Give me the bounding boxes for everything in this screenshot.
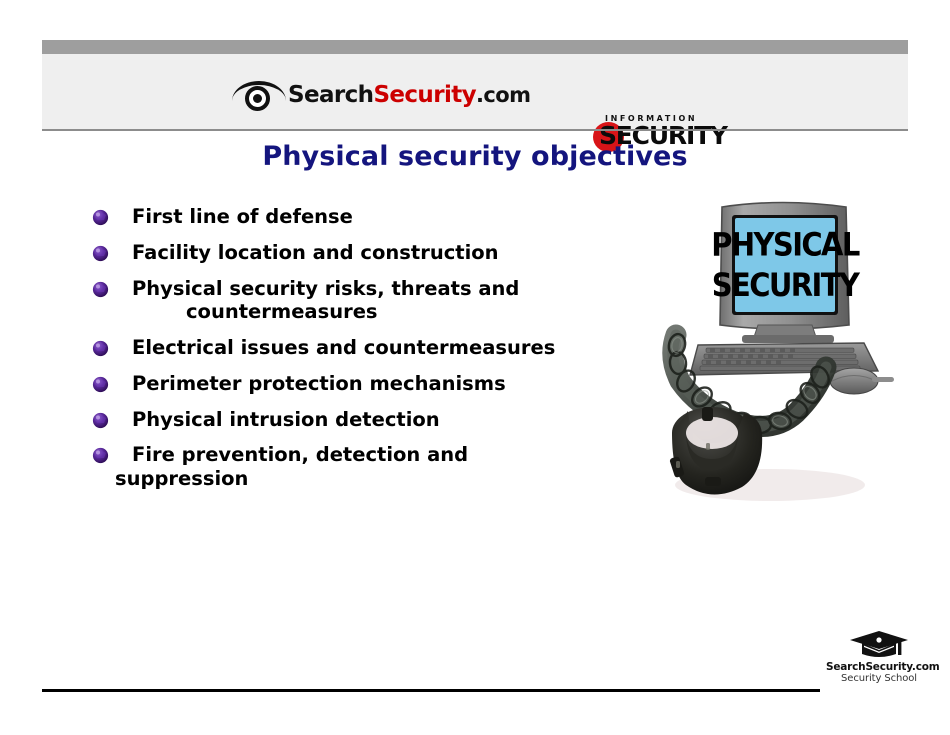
security-school-subtitle: Security School [826, 673, 932, 685]
security-school-logo: SearchSecurity.com Security School [826, 629, 932, 687]
bullet-list: First line of defense Facility location … [88, 205, 658, 503]
bullet-text: Physical intrusion detection [132, 408, 440, 431]
purple-gem-bullet-icon [92, 339, 109, 356]
footer-rule [42, 689, 820, 692]
bullet-item: Fire prevention, detection and suppressi… [88, 443, 658, 491]
bullet-text: Physical security risks, threats and [132, 277, 519, 300]
header-top-bar [42, 40, 908, 54]
eye-icon [232, 79, 286, 111]
purple-gem-bullet-icon [92, 411, 109, 428]
header-bottom-rule [42, 129, 908, 131]
chained-computer-illustration: PHYSICAL SECURITY [650, 185, 915, 515]
bullet-text: Perimeter protection mechanisms [132, 372, 506, 395]
purple-gem-bullet-icon [92, 280, 109, 297]
bullet-item: Perimeter protection mechanisms [88, 372, 658, 396]
header-banner: Search Security .com INFORMATION SECURIT… [42, 40, 908, 131]
svg-text:PHYSICAL: PHYSICAL [711, 226, 860, 264]
searchsecurity-logo: Search Security .com [232, 78, 530, 112]
bullet-text: Fire prevention, detection and [132, 443, 468, 466]
searchsecurity-logo-part2: Security [373, 84, 476, 107]
purple-gem-bullet-icon [92, 244, 109, 261]
bullet-item: Electrical issues and countermeasures [88, 336, 658, 360]
purple-gem-bullet-icon [92, 446, 109, 463]
bullet-item: First line of defense [88, 205, 658, 229]
slide-title: Physical security objectives [0, 141, 950, 172]
purple-gem-bullet-icon [92, 375, 109, 392]
svg-text:SECURITY: SECURITY [712, 266, 861, 304]
bullet-text: Facility location and construction [132, 241, 499, 264]
security-school-brand: SearchSecurity.com [826, 661, 932, 673]
graduation-cap-icon [826, 629, 932, 661]
bullet-text-continuation: suppression [115, 467, 658, 491]
bullet-text-continuation: countermeasures [132, 300, 658, 324]
bullet-text: First line of defense [132, 205, 353, 228]
purple-gem-bullet-icon [92, 208, 109, 225]
searchsecurity-logo-part1: Search [288, 84, 373, 107]
bullet-item: Physical intrusion detection [88, 408, 658, 432]
bullet-text: Electrical issues and countermeasures [132, 336, 555, 359]
bullet-item: Facility location and construction [88, 241, 658, 265]
bullet-item: Physical security risks, threats and cou… [88, 277, 658, 325]
searchsecurity-logo-part3: .com [476, 85, 530, 106]
